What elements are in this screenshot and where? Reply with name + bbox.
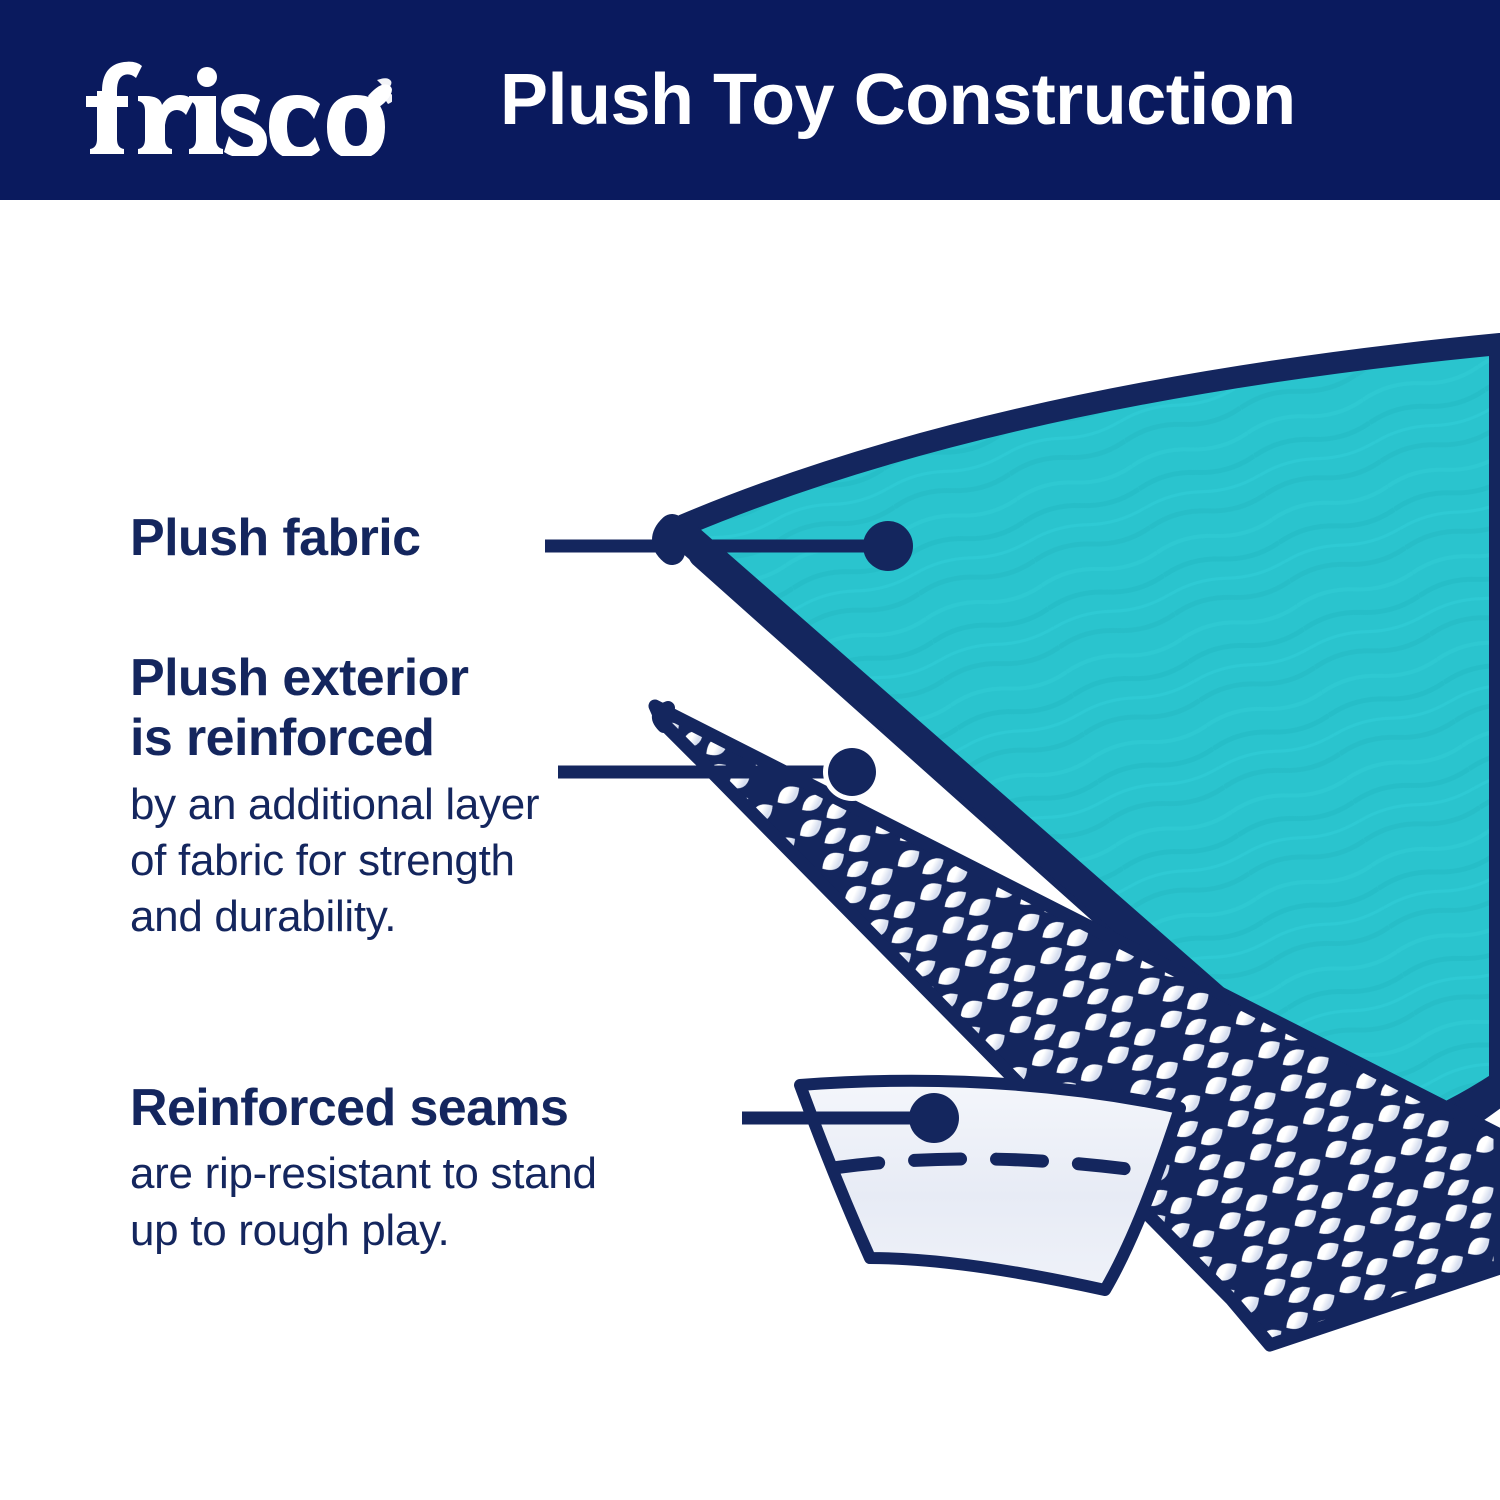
plush-fabric-layer xyxy=(665,344,1500,1160)
stitch-dashed-line xyxy=(833,1159,1150,1172)
reinforced-seam-flap xyxy=(800,1081,1180,1290)
leader-dot-plush-fabric xyxy=(863,521,913,571)
leader-dot-ring-plush-exterior xyxy=(823,743,881,801)
callout-heading: Plush exterior is reinforced xyxy=(130,648,539,769)
callout-plush-fabric: Plush fabric xyxy=(130,508,420,568)
callout-body: are rip-resistant to stand up to rough p… xyxy=(130,1146,597,1259)
callout-plush-exterior-reinforced: Plush exterior is reinforced by an addit… xyxy=(130,648,539,946)
callout-reinforced-seams: Reinforced seams are rip-resistant to st… xyxy=(130,1078,597,1259)
callout-body: by an additional layer of fabric for str… xyxy=(130,777,539,946)
leader-dots xyxy=(823,521,959,1143)
page-title: Plush Toy Construction xyxy=(500,0,1296,200)
reinforcement-mesh-layer xyxy=(600,660,1500,1400)
callout-heading: Plush fabric xyxy=(130,508,420,568)
leader-dot-plush-exterior xyxy=(828,748,876,796)
frisco-logo: R xyxy=(72,44,392,156)
registered-mark: R xyxy=(372,139,378,149)
infographic-page: R Plush Toy Construction xyxy=(0,0,1500,1500)
leader-dot-reinforced-seams xyxy=(909,1093,959,1143)
leader-lines xyxy=(545,546,934,1118)
callout-heading: Reinforced seams xyxy=(130,1078,597,1138)
header-bar: R Plush Toy Construction xyxy=(0,0,1500,200)
